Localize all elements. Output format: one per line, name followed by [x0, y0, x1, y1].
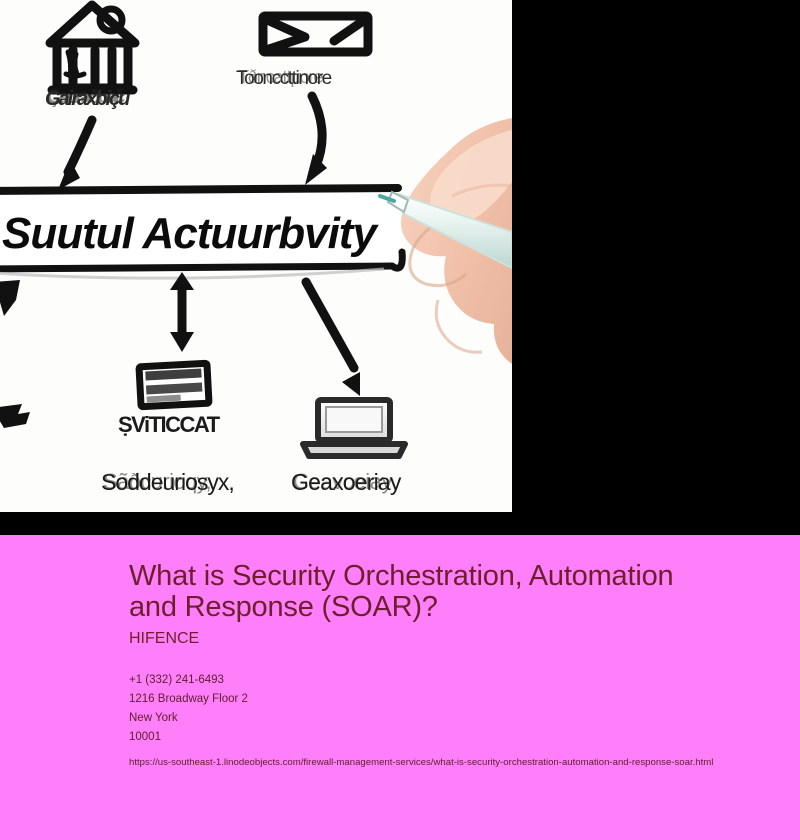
page-root: Gairaxbiçu Çauraðbąč Toonccttinore Tðnca… — [0, 0, 800, 840]
svg-text:Çauraðbąč: Çauraðbąč — [47, 87, 126, 108]
bank-label-text: Gairaxbiçu Çauraðbąč — [45, 87, 130, 110]
contact-city: New York — [129, 709, 800, 728]
contact-zip: 10001 — [129, 728, 800, 747]
contact-phone[interactable]: +1 (332) 241-6493 — [129, 671, 800, 690]
page-title: What is Security Orchestration, Automati… — [129, 561, 674, 623]
svg-text:ṢViTICCAT: ṢViTICCAT — [118, 412, 221, 437]
envelope-label-text: Toonccttinore Tðncattµore — [236, 67, 332, 89]
hero-illustration: Gairaxbiçu Çauraðbąč Toonccttinore Tðnca… — [0, 0, 512, 512]
content-inner: What is Security Orchestration, Automati… — [129, 561, 800, 771]
svg-text:Sãðcurioqy,: Sãðcurioqy, — [103, 469, 211, 494]
laptop-icon — [303, 400, 405, 456]
contact-street: 1216 Broadway Floor 2 — [129, 690, 800, 709]
banner-text: Suutul Actuurbvity — [2, 209, 379, 258]
monitor-icon — [139, 363, 209, 407]
hero-band: Gairaxbiçu Çauraðbąč Toonccttinore Tðnca… — [0, 0, 800, 535]
source-url[interactable]: https://us-southeast-1.linodeobjects.com… — [129, 754, 800, 771]
svg-text:Ceavceiay: Ceavceiay — [293, 469, 393, 494]
central-banner: Suutul Actuurbvity — [0, 188, 402, 278]
svg-text:Tðncattµore: Tðncattµore — [238, 67, 323, 87]
content-panel: What is Security Orchestration, Automati… — [0, 535, 800, 840]
brand-name: HIFENCE — [129, 629, 800, 648]
contact-block: +1 (332) 241-6493 1216 Broadway Floor 2 … — [129, 671, 800, 747]
laptop-label-text: Geaxoeriay Ceavceiay — [291, 469, 402, 495]
whiteboard-sketch-svg: Gairaxbiçu Çauraðbąč Toonccttinore Tðnca… — [0, 0, 512, 512]
